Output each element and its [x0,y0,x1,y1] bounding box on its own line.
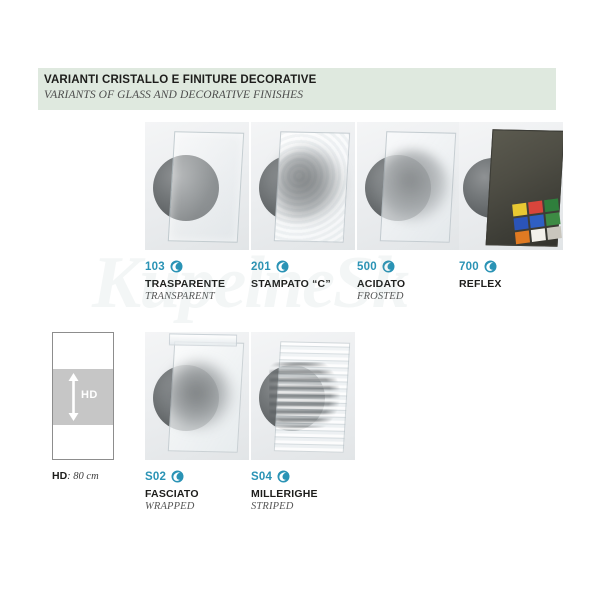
color-reflection-grid [512,198,562,244]
swatch-name-en: STRIPED [251,501,355,512]
swatch-name-it: ACIDATO [357,278,461,290]
swatch-caption: 700 REFLEX [459,259,563,290]
hd-band-label: HD [81,389,98,401]
hd-panel-outline: HD [52,332,114,460]
code-line: S02 [145,469,249,484]
glass-drop-icon [484,260,497,273]
code-line: S04 [251,469,355,484]
swatch-name-en: FROSTED [357,291,461,302]
swatch-name-it: TRASPARENTE [145,278,249,290]
reflex-glass-sample [459,122,563,250]
glass-drop-icon [277,470,290,483]
section-subtitle: VARIANTS OF GLASS AND DECORATIVE FINISHE… [44,88,556,103]
swatch-name-it: FASCIATO [145,488,249,500]
code-number: S04 [251,471,272,483]
swatch-card-s04[interactable]: S04 MILLERIGHE STRIPED [251,332,355,512]
code-line: 500 [357,259,461,274]
glass-drop-icon [276,260,289,273]
swatch-card-700[interactable]: 700 REFLEX [459,122,563,291]
glass-drop-icon [171,470,184,483]
code-number: 500 [357,261,377,273]
section-header: VARIANTI CRISTALLO E FINITURE DECORATIVE… [38,68,556,110]
swatch-card-s02[interactable]: S02 FASCIATO WRAPPED [145,332,249,512]
glass-drop-icon [382,260,395,273]
swatch-caption: 500 ACIDATO FROSTED [357,259,461,302]
glass-drop-icon [170,260,183,273]
swatch-caption: 201 STAMPATO “C” [251,259,355,290]
section-title: VARIANTI CRISTALLO E FINITURE DECORATIVE [44,73,556,88]
code-number: 201 [251,261,271,273]
swatch-name-en: TRANSPARENT [145,291,249,302]
hd-double-arrow-icon [68,373,79,421]
swatch-caption: S02 FASCIATO WRAPPED [145,469,249,512]
code-line: 201 [251,259,355,274]
swatch-name-it: STAMPATO “C” [251,278,355,290]
code-number: 103 [145,261,165,273]
frosted-glass-sample [357,122,461,250]
swatch-name-it: REFLEX [459,278,563,290]
catalog-page: KupelneSk VARIANTI CRISTALLO E FINITURE … [0,0,600,600]
swatch-name-en: WRAPPED [145,501,249,512]
swatch-caption: S04 MILLERIGHE STRIPED [251,469,355,512]
hd-caption-key: HD [52,470,67,482]
code-number: S02 [145,471,166,483]
hd-caption: HD: 80 cm [52,470,128,482]
patterned-c-glass-sample [251,122,355,250]
swatch-card-201[interactable]: 201 STAMPATO “C” [251,122,355,291]
swatch-card-103[interactable]: 103 TRASPARENTE TRANSPARENT [145,122,249,302]
code-line: 700 [459,259,563,274]
swatch-card-500[interactable]: 500 ACIDATO FROSTED [357,122,461,302]
swatch-name-it: MILLERIGHE [251,488,355,500]
hd-caption-value: : 80 cm [67,471,99,482]
wrapped-glass-sample [145,332,249,460]
code-line: 103 [145,259,249,274]
striped-glass-sample [251,332,355,460]
transparent-glass-sample [145,122,249,250]
hd-diagram: HD HD: 80 cm [52,332,128,482]
swatch-caption: 103 TRASPARENTE TRANSPARENT [145,259,249,302]
code-number: 700 [459,261,479,273]
